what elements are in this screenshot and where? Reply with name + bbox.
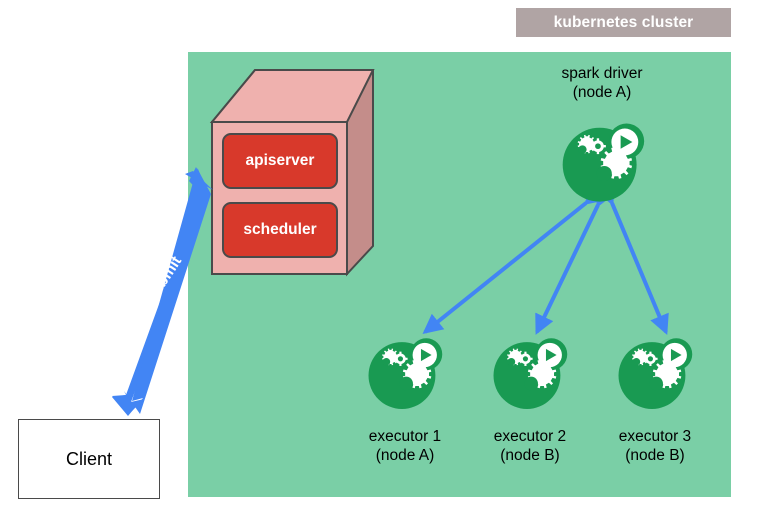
client-box[interactable]: Client xyxy=(18,419,160,499)
diagram-canvas: kubernetes cluster apiserver scheduler xyxy=(0,0,761,516)
client-label: Client xyxy=(66,449,112,470)
